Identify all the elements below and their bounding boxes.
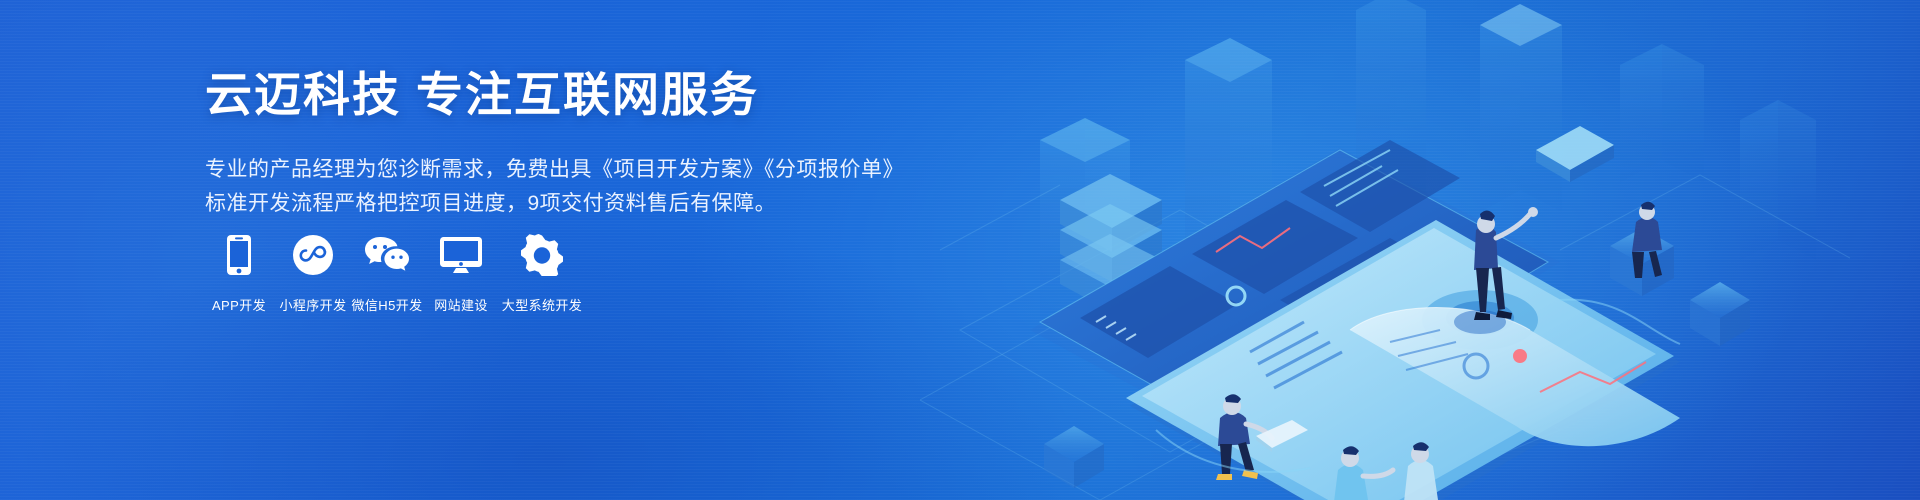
- mobile-phone-icon: [226, 232, 252, 278]
- subtitle-line-2: 标准开发流程严格把控项目进度，9项交付资料售后有保障。: [205, 187, 905, 221]
- service-item-wechat[interactable]: 微信H5开发: [351, 232, 423, 314]
- monitor-icon: [439, 232, 483, 278]
- service-item-miniprogram[interactable]: 小程序开发: [277, 232, 349, 314]
- gear-icon: [521, 232, 563, 278]
- service-label: 微信H5开发: [351, 295, 422, 314]
- service-label: APP开发: [212, 295, 266, 314]
- page-title: 云迈科技 专注互联网服务: [205, 68, 905, 123]
- mini-program-icon: [292, 232, 334, 278]
- subtitle-line-1: 专业的产品经理为您诊断需求，免费出具《项目开发方案》《分项报价单》: [205, 153, 905, 187]
- service-label: 小程序开发: [279, 295, 346, 314]
- illustration: [920, 0, 1920, 500]
- service-item-website[interactable]: 网站建设: [425, 232, 497, 314]
- service-list: APP开发 小程序开发: [203, 232, 587, 314]
- promo-banner: 云迈科技 专注互联网服务 专业的产品经理为您诊断需求，免费出具《项目开发方案》《…: [0, 0, 1920, 500]
- service-label: 大型系统开发: [502, 295, 582, 314]
- wechat-icon: [363, 232, 411, 278]
- subtitle: 专业的产品经理为您诊断需求，免费出具《项目开发方案》《分项报价单》 标准开发流程…: [205, 153, 905, 221]
- service-item-system[interactable]: 大型系统开发: [499, 232, 585, 314]
- service-label: 网站建设: [434, 295, 488, 314]
- copy-block: 云迈科技 专注互联网服务 专业的产品经理为您诊断需求，免费出具《项目开发方案》《…: [205, 68, 905, 221]
- service-item-app[interactable]: APP开发: [203, 232, 275, 314]
